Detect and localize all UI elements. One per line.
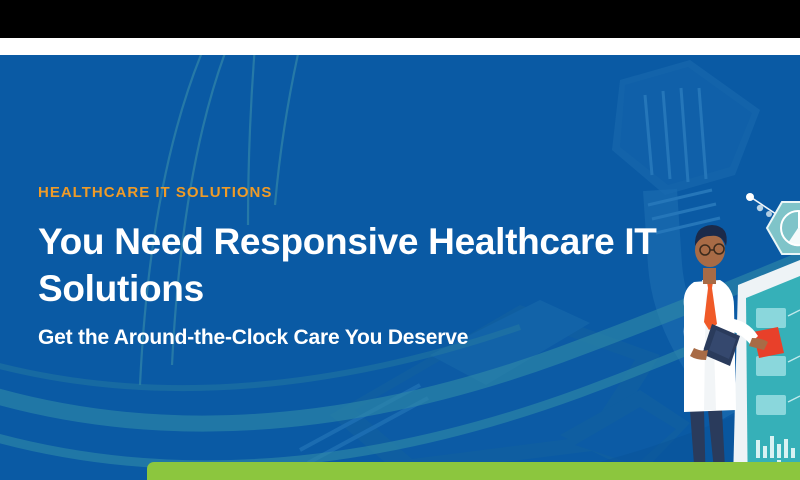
hero-section: HEALTHCARE IT SOLUTIONS You Need Respons… [0,55,800,480]
healthcare-illustration [660,110,800,480]
eyebrow-label: HEALTHCARE IT SOLUTIONS [38,185,698,200]
white-separator-band [0,38,800,55]
screen-card [756,395,786,415]
hero-copy-block: HEALTHCARE IT SOLUTIONS You Need Respons… [38,185,698,350]
pie-chart-hexagon-icon [746,193,800,254]
page-title: You Need Responsive Healthcare IT Soluti… [38,218,678,313]
smartphone-screen [732,260,800,480]
top-letterbox-band [0,0,800,38]
screen-card [756,356,786,376]
screen-card [756,308,786,328]
green-accent-bar [147,462,800,480]
hero-banner-screenshot: HEALTHCARE IT SOLUTIONS You Need Respons… [0,0,800,480]
hero-subheadline: Get the Around-the-Clock Care You Deserv… [38,325,698,350]
